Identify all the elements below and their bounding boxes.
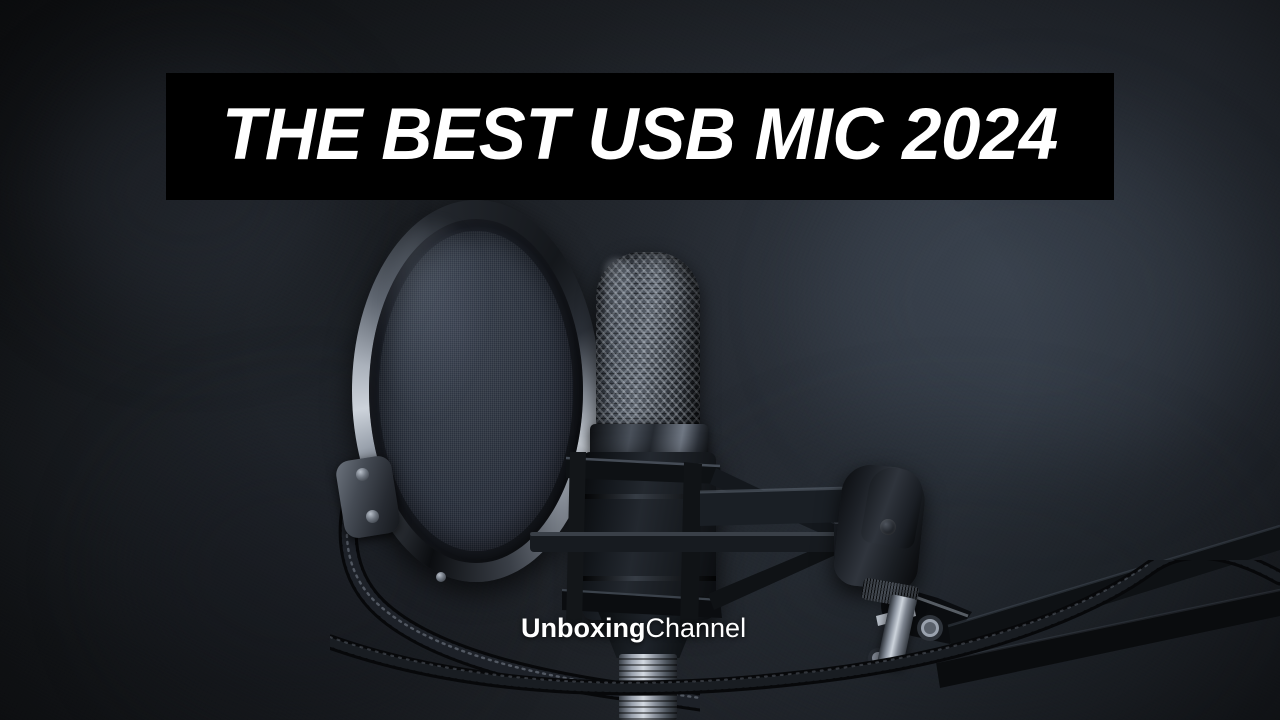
pop-filter-screw — [356, 468, 369, 481]
microphone-cable — [330, 560, 1280, 720]
pop-filter-clamp — [334, 454, 402, 540]
capsule-highlight — [604, 258, 630, 408]
video-thumbnail: THE BEST USB MIC 2024 UnboxingChannel — [0, 0, 1280, 720]
knob-pivot-dot — [880, 519, 896, 535]
channel-watermark: UnboxingChannel — [521, 615, 746, 642]
microphone-capsule-grille — [596, 252, 700, 434]
watermark-bold-part: Unboxing — [521, 613, 645, 643]
title-banner: THE BEST USB MIC 2024 — [166, 73, 1114, 200]
watermark-light-part: Channel — [645, 613, 746, 643]
pop-filter-screw — [366, 510, 379, 523]
title-text: THE BEST USB MIC 2024 — [222, 98, 1058, 175]
pop-filter-sheen — [384, 223, 488, 422]
